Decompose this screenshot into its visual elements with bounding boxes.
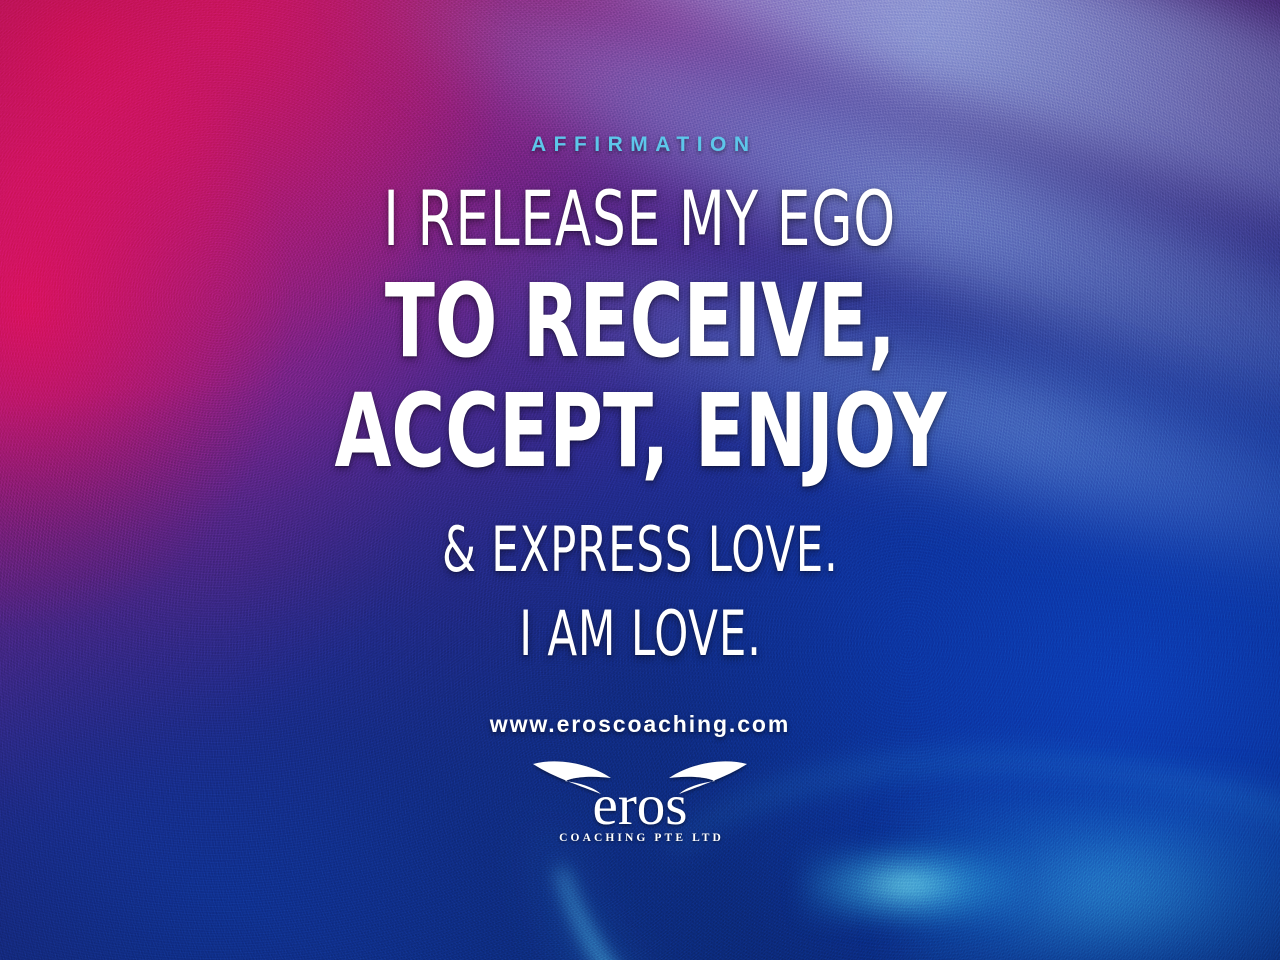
- quote-line-1: I RELEASE MY EGO: [384, 181, 897, 257]
- eyebrow-label: AFFIRMATION: [523, 133, 756, 157]
- poster-content: AFFIRMATION I RELEASE MY EGO TO RECEIVE,…: [0, 0, 1280, 960]
- affirmation-poster: AFFIRMATION I RELEASE MY EGO TO RECEIVE,…: [0, 0, 1280, 960]
- website-url[interactable]: www.eroscoaching.com: [490, 711, 790, 738]
- eros-logo-tagline: COACHING PTE LTD: [525, 832, 755, 844]
- quote-line-2: TO RECEIVE,: [385, 271, 896, 373]
- eros-logo: eros COACHING PTE LTD: [525, 756, 755, 848]
- quote-line-5: I AM LOVE.: [519, 603, 761, 665]
- quote-line-4: & EXPRESS LOVE.: [442, 519, 839, 581]
- quote-line-3: ACCEPT, ENJOY: [334, 381, 946, 483]
- eros-wordmark: eros: [593, 774, 688, 837]
